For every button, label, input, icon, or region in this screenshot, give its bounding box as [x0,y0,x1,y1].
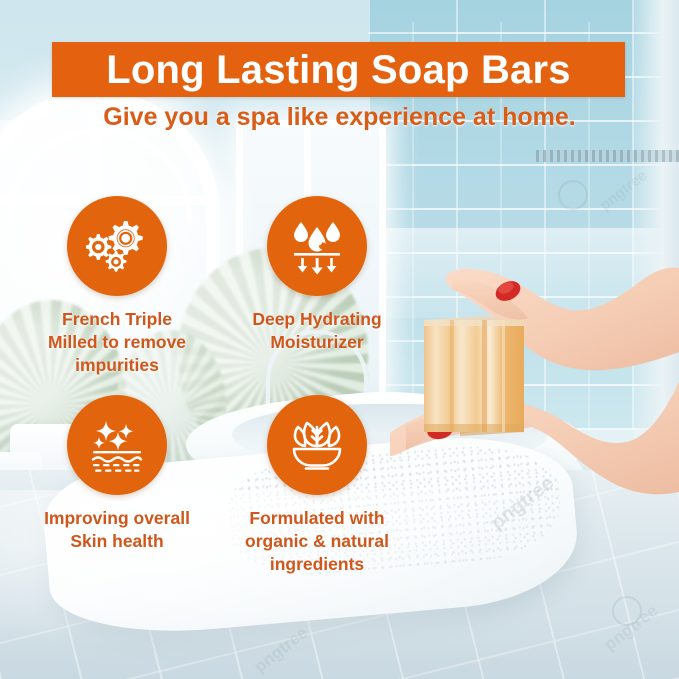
feature-label-line2: Milled to remove [48,331,186,354]
feature-label-line1: Improving overall [44,507,190,530]
subtitle: Give you a spa like experience at home. [0,104,679,132]
gears-icon [86,217,148,275]
feature-label: Deep Hydrating Moisturizer [252,308,381,354]
feature-label: Formulated with organic & natural ingred… [245,507,389,576]
title-banner: Long Lasting Soap Bars [52,42,625,97]
feature-label-line1: French Triple [48,308,186,331]
water-drops-absorb-icon [287,216,347,276]
feature-icon-circle [267,196,367,296]
feature-label-line2: organic & natural [245,530,389,553]
feature-label: French Triple Milled to remove impuritie… [48,308,186,377]
feature-label-line3: ingredients [245,553,389,576]
feature-label-line2: Skin health [44,530,190,553]
feature-label-line2: Moisturizer [252,331,381,354]
feature-label: Improving overall Skin health [44,507,190,553]
feature-label-line1: Deep Hydrating [252,308,381,331]
feature-icon-circle [267,395,367,495]
feature-icon-circle [67,395,167,495]
feature-item-organic-natural: Formulated with organic & natural ingred… [222,395,412,576]
feature-label-line3: impurities [48,354,186,377]
product-feature-poster: pngtree pngtree pngtree pngtree Long Las… [0,0,679,679]
poster-content: Long Lasting Soap Bars Give you a spa li… [0,0,679,679]
sparkle-skin-layers-icon [86,416,148,474]
feature-item-deep-hydrating: Deep Hydrating Moisturizer [222,196,412,377]
feature-icon-circle [67,196,167,296]
leaves-in-bowl-icon [285,416,349,474]
feature-label-line1: Formulated with [245,507,389,530]
feature-grid: French Triple Milled to remove impuritie… [22,196,412,577]
feature-item-french-triple-milled: French Triple Milled to remove impuritie… [22,196,212,377]
feature-item-improving-skin-health: Improving overall Skin health [22,395,212,576]
page-title: Long Lasting Soap Bars [106,50,570,90]
